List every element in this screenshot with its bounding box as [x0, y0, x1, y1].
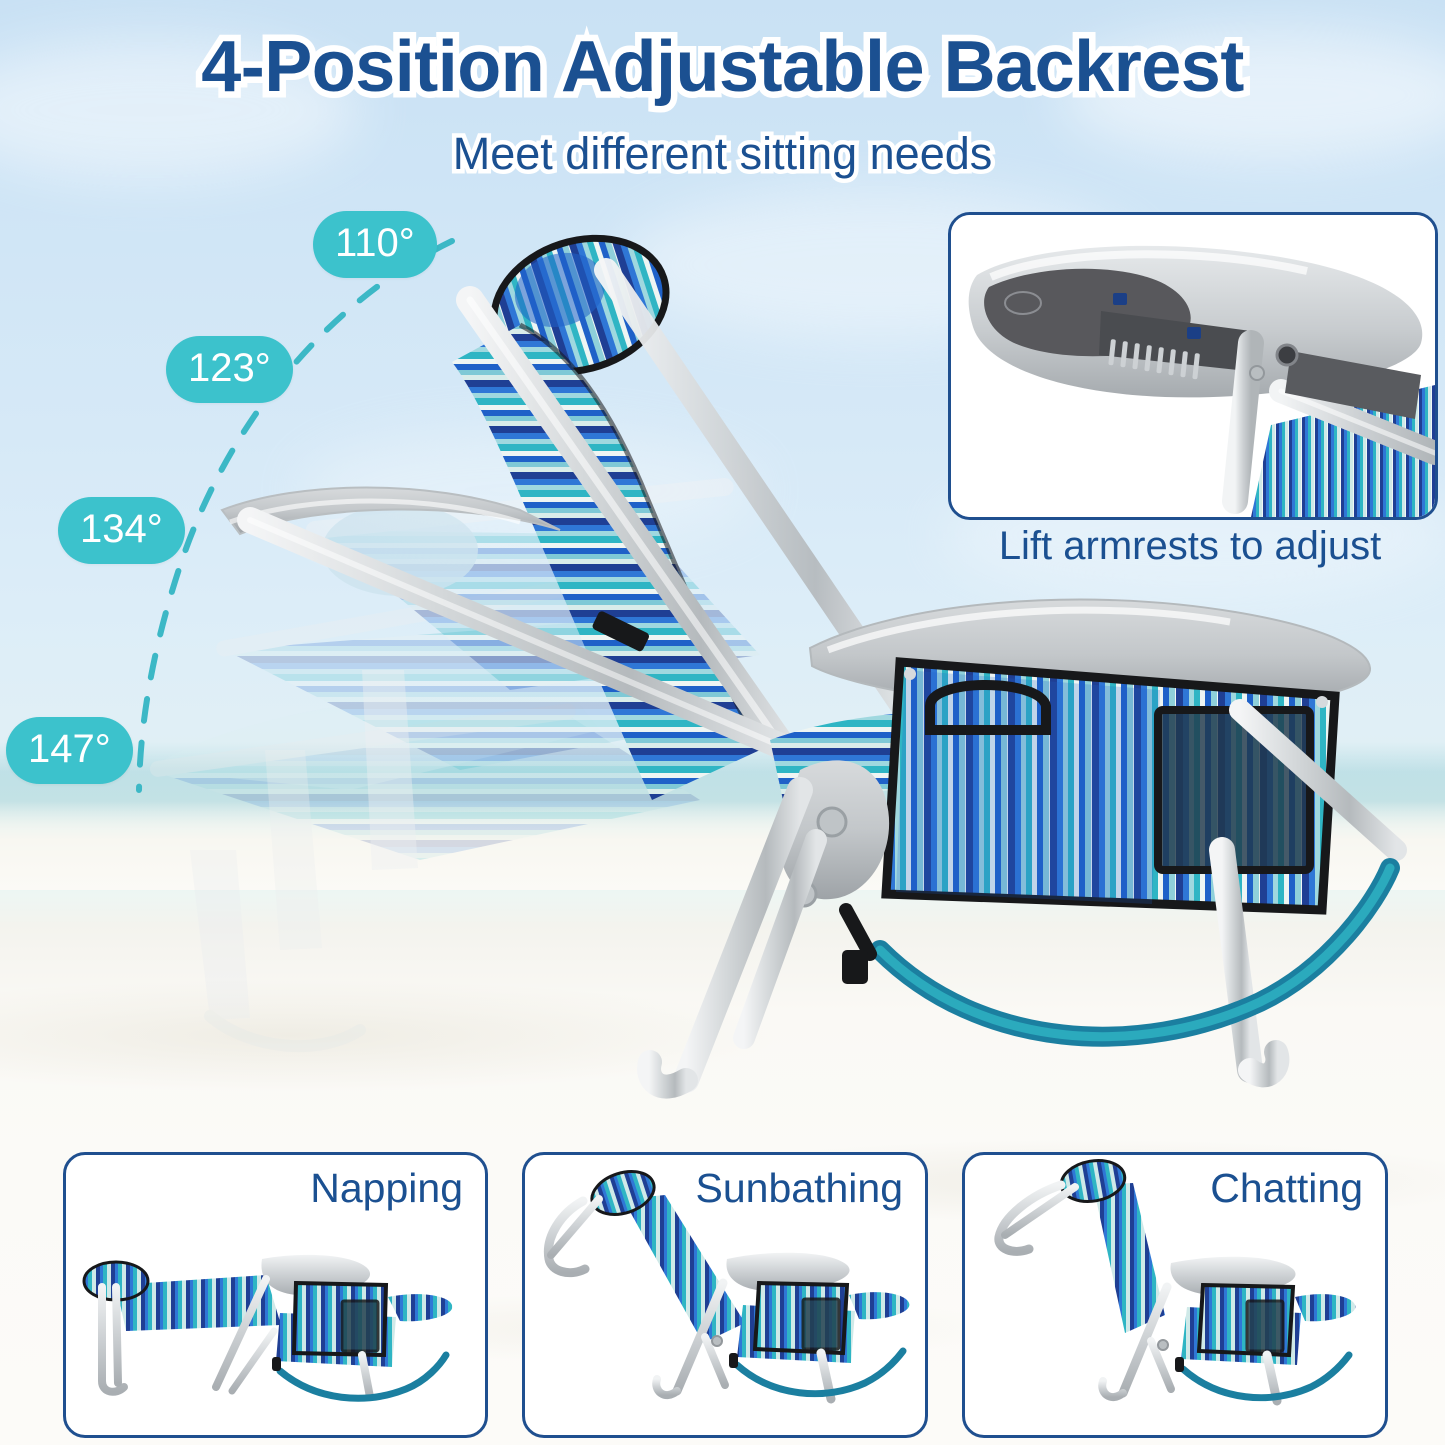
- panel-sunbathing-label: Sunbathing: [696, 1165, 903, 1212]
- inset-caption: Lift armrests to adjust: [948, 524, 1432, 569]
- panel-napping: Napping: [63, 1152, 488, 1438]
- page-subtitle: Meet different sitting needs: [0, 128, 1445, 180]
- angle-badge-147: 147°: [6, 717, 133, 784]
- shoreline: [0, 800, 1445, 890]
- angle-badge-110: 110°: [313, 211, 437, 278]
- angle-badge-134: 134°: [58, 497, 185, 564]
- infographic-canvas: 4-Position Adjustable Backrest Meet diff…: [0, 0, 1445, 1445]
- armrest: [222, 488, 790, 751]
- seat-armrest-right: [810, 600, 1370, 711]
- cloud-shape: [300, 430, 760, 550]
- page-title: 4-Position Adjustable Backrest: [0, 26, 1445, 108]
- panel-napping-label: Napping: [310, 1165, 463, 1212]
- panel-sunbathing: Sunbathing: [522, 1152, 928, 1438]
- panel-chatting-label: Chatting: [1210, 1165, 1363, 1212]
- storage-pouch: [886, 662, 1335, 910]
- armrest-closeup-panel: [948, 212, 1438, 520]
- headrest-pillow: [477, 217, 684, 393]
- angle-badge-123: 123°: [166, 336, 293, 403]
- panel-chatting: Chatting: [962, 1152, 1388, 1438]
- ocean-band: [0, 742, 1445, 828]
- hinge-bracket: [780, 760, 890, 906]
